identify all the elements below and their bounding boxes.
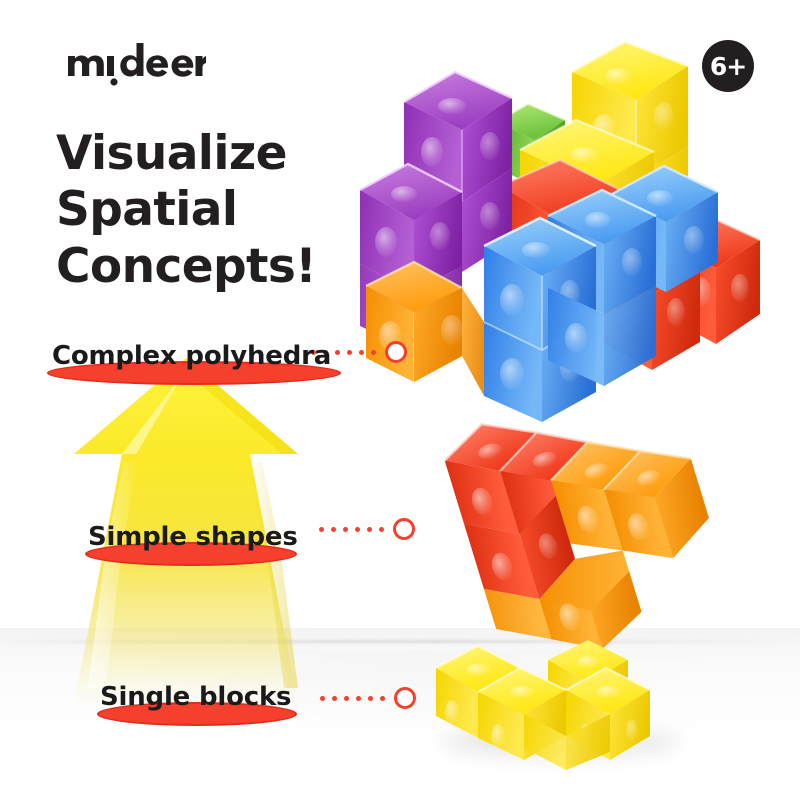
- stage-label-text-3: Complex polyhedra: [52, 336, 331, 376]
- connector-single-blocks: [320, 687, 416, 709]
- stage-label-simple-shapes: Simple shapes: [88, 517, 298, 557]
- connector-dot: [347, 350, 352, 355]
- stage-label-text-1: Single blocks: [100, 677, 291, 717]
- connector-simple-shapes: [319, 518, 415, 540]
- connector-endpoint-ring: [394, 687, 416, 709]
- connector-dot: [380, 696, 385, 701]
- page-title: Visualize Spatial Concepts!: [56, 126, 386, 295]
- connector-dot: [344, 696, 349, 701]
- connector-dot: [368, 696, 373, 701]
- connector-dot: [356, 696, 361, 701]
- stage-label-text-2: Simple shapes: [88, 517, 298, 557]
- stage-label-complex-polyhedra: Complex polyhedra: [52, 336, 331, 376]
- connector-dot: [367, 527, 372, 532]
- connector-dot: [331, 527, 336, 532]
- age-badge-label: 6+: [710, 54, 746, 79]
- headline-line-1: Visualize: [56, 126, 386, 182]
- mideer-wordmark-icon: [66, 42, 206, 86]
- connector-dot: [335, 350, 340, 355]
- brand-logo: [66, 42, 206, 86]
- poster-canvas: 6+ Visualize Spatial Concepts! Complex p…: [0, 0, 800, 800]
- connector-endpoint-ring: [393, 518, 415, 540]
- stage-label-single-blocks: Single blocks: [100, 677, 291, 717]
- connector-dot: [379, 527, 384, 532]
- connector-endpoint-ring: [385, 341, 407, 363]
- connector-dot: [359, 350, 364, 355]
- connector-dot: [343, 527, 348, 532]
- headline-line-2: Spatial: [56, 182, 386, 238]
- age-badge: 6+: [702, 40, 754, 92]
- connector-dot: [319, 527, 324, 532]
- connector-dot: [355, 527, 360, 532]
- headline-line-3: Concepts!: [56, 239, 386, 295]
- connector-dot: [332, 696, 337, 701]
- connector-dot: [371, 350, 376, 355]
- connector-dot: [320, 696, 325, 701]
